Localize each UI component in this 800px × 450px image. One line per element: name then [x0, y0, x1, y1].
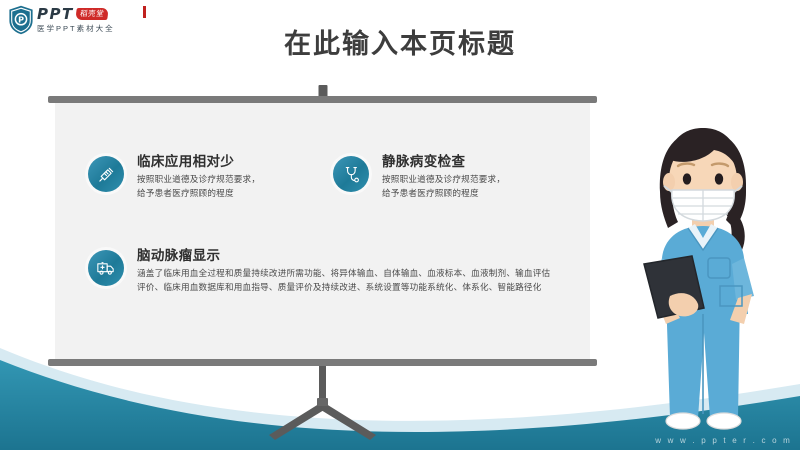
ambulance-icon	[88, 250, 124, 286]
content-block-2-title: 脑动脉瘤显示	[137, 248, 557, 265]
screen-top-bar	[48, 96, 597, 103]
logo-primary-row: PPT 稻壳堂	[37, 7, 115, 22]
site-watermark: w w w . p p t e r . c o m	[655, 436, 792, 445]
projector-screen: 临床应用相对少 按照职业道德及诊疗规范要求， 给予患者医疗照顾的程度	[55, 96, 590, 366]
content-block-1-title: 静脉病变检查	[382, 154, 505, 171]
logo-badge: 稻壳堂	[75, 8, 109, 20]
content-block-2-text: 脑动脉瘤显示 涵盖了临床用血全过程和质量持续改进所需功能、将异体输血、自体输血、…	[137, 248, 557, 295]
content-block-0[interactable]: 临床应用相对少 按照职业道德及诊疗规范要求， 给予患者医疗照顾的程度	[88, 154, 313, 201]
content-block-0-text: 临床应用相对少 按照职业道德及诊疗规范要求， 给予患者医疗照顾的程度	[137, 154, 260, 201]
content-block-0-body: 按照职业道德及诊疗规范要求， 给予患者医疗照顾的程度	[137, 174, 260, 201]
stethoscope-icon	[333, 156, 369, 192]
content-block-0-title: 临床应用相对少	[137, 154, 260, 171]
nurse-illustration	[608, 118, 798, 448]
content-block-1-text: 静脉病变检查 按照职业道德及诊疗规范要求， 给予患者医疗照顾的程度	[382, 154, 505, 201]
projector-tripod	[55, 360, 590, 450]
content-block-2-body: 涵盖了临床用血全过程和质量持续改进所需功能、将异体输血、自体输血、血液标本、血液…	[137, 268, 557, 295]
content-block-1-body: 按照职业道德及诊疗规范要求， 给予患者医疗照顾的程度	[382, 174, 505, 201]
screen-bottom-bar	[48, 359, 597, 366]
syringe-icon	[88, 156, 124, 192]
page-title: 在此输入本页标题	[0, 22, 800, 61]
logo-divider	[143, 6, 146, 18]
logo-brand-text: PPT	[37, 7, 74, 22]
content-blocks: 临床应用相对少 按照职业道德及诊疗规范要求， 给予患者医疗照顾的程度	[55, 103, 590, 359]
content-block-1[interactable]: 静脉病变检查 按照职业道德及诊疗规范要求， 给予患者医疗照顾的程度	[333, 154, 558, 201]
screen-content-panel: 临床应用相对少 按照职业道德及诊疗规范要求， 给予患者医疗照顾的程度	[55, 103, 590, 359]
slide-canvas: P PPT 稻壳堂 医学PPT素材大全 在此输入本页标题	[0, 0, 800, 450]
content-block-2[interactable]: 脑动脉瘤显示 涵盖了临床用血全过程和质量持续改进所需功能、将异体输血、自体输血、…	[88, 248, 558, 295]
